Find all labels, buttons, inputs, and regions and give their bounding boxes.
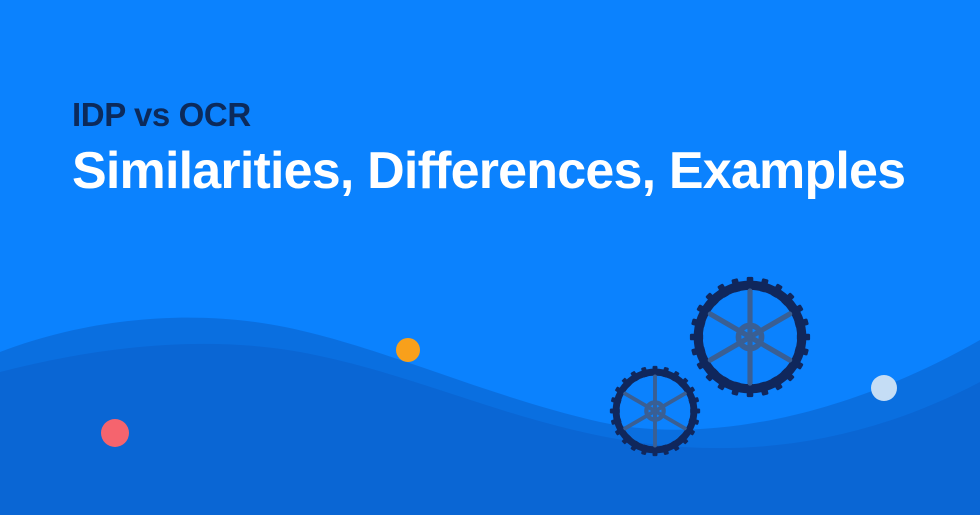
hero-headline: Similarities, Differences, Examples [72, 142, 952, 200]
background-illustration [0, 0, 980, 515]
dot-pink-icon [101, 419, 129, 447]
dot-light-blue-icon [871, 375, 897, 401]
hero-eyebrow: IDP vs OCR [72, 96, 952, 134]
hero-text-block: IDP vs OCR Similarities, Differences, Ex… [72, 96, 952, 200]
dot-orange-icon [396, 338, 420, 362]
article-hero-banner: IDP vs OCR Similarities, Differences, Ex… [0, 0, 980, 515]
